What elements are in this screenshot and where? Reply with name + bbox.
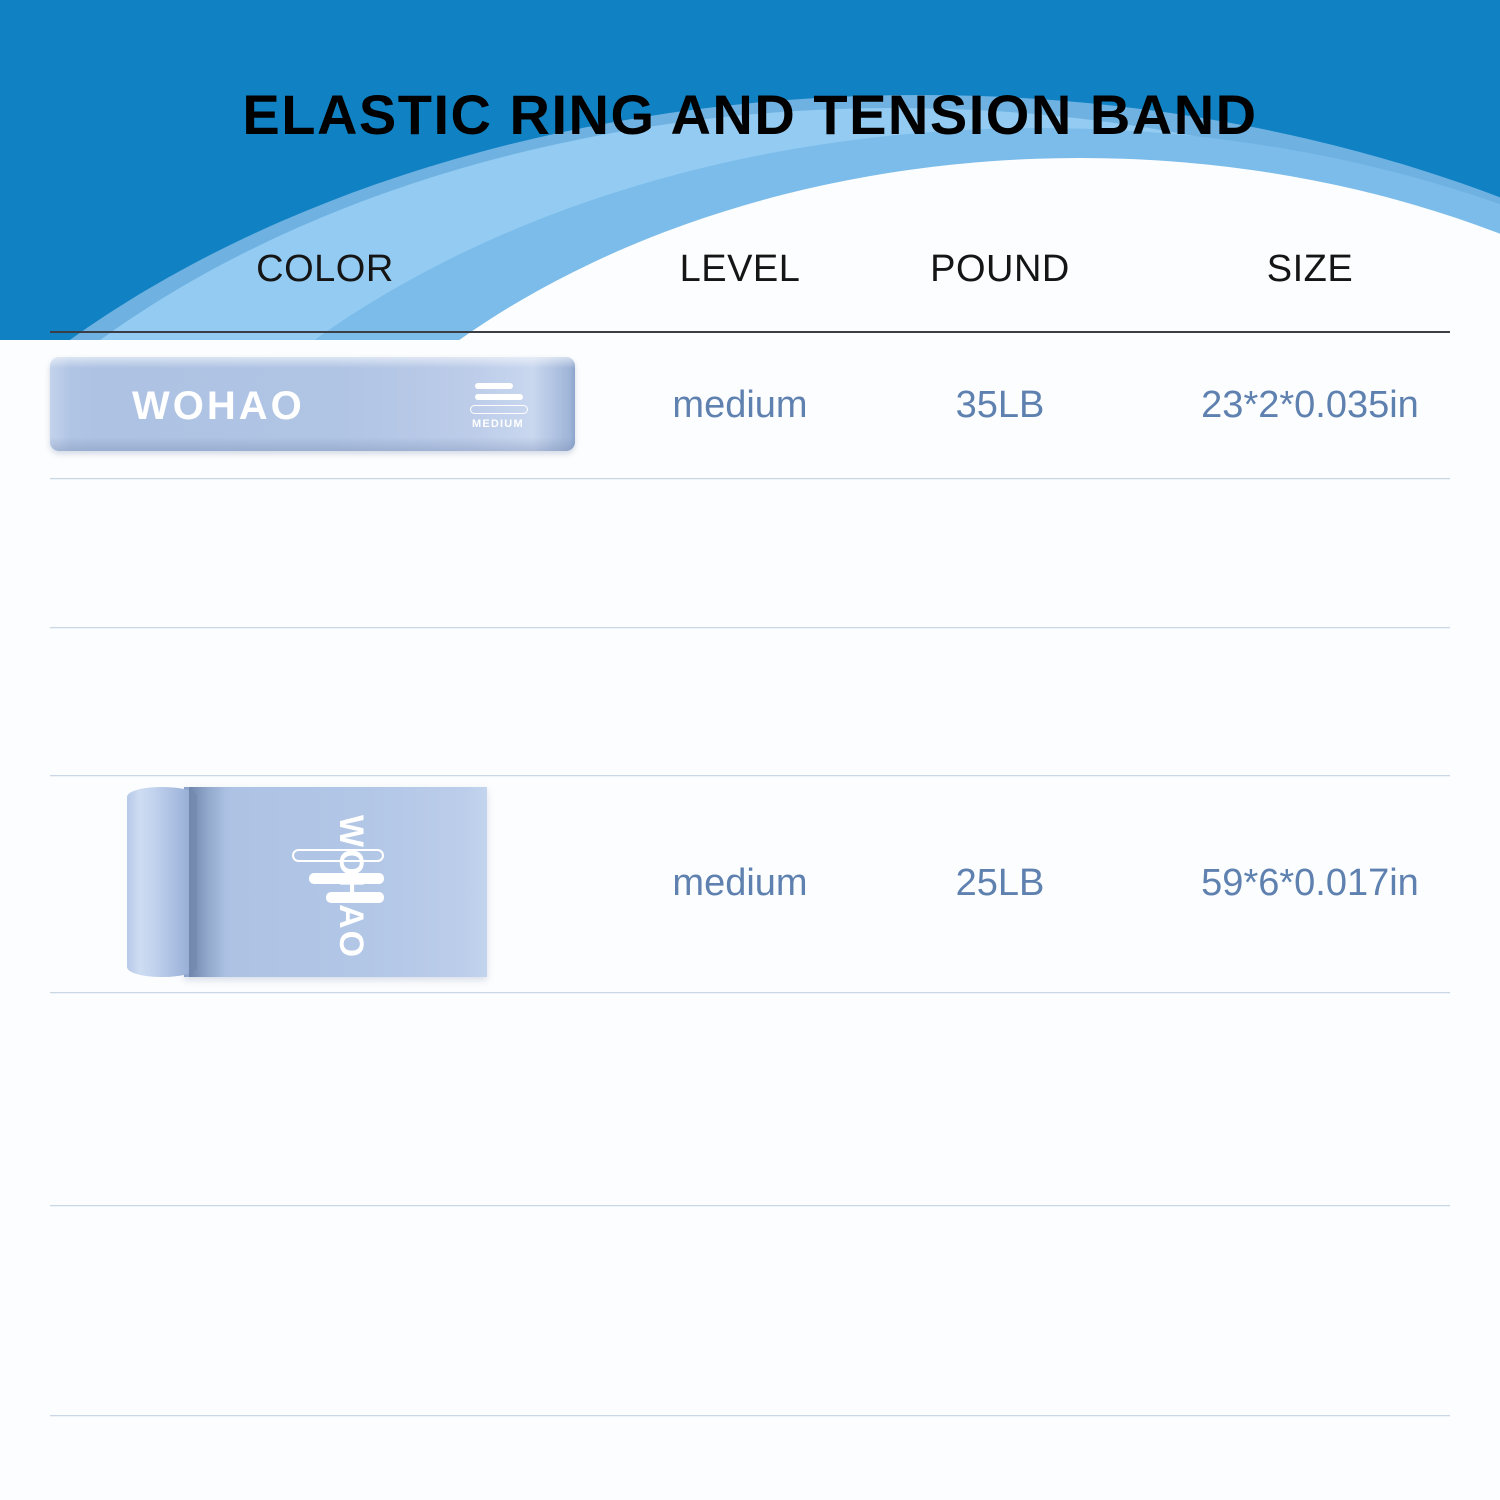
column-header-pound: POUND [880, 248, 1120, 291]
cell-size-row-2: 59*6*0.017in [1145, 862, 1475, 905]
level-bar-short [475, 383, 513, 389]
brand-logo-text: WOHAO [132, 384, 305, 429]
level-bar-long [475, 394, 523, 400]
row-divider [50, 478, 1450, 479]
level-pill-outline [470, 405, 528, 414]
row-divider [50, 627, 1450, 628]
level-indicator-icon: MEDIUM [470, 383, 532, 433]
band-roll-cylinder [127, 787, 197, 977]
cell-pound-row-1: 35LB [880, 384, 1120, 427]
cell-level-row-1: medium [620, 384, 860, 427]
level-badge-label: MEDIUM [472, 418, 524, 430]
product-image-rolled-band: WOHAO [127, 787, 487, 977]
table-header-rule [50, 331, 1450, 333]
row-divider [50, 992, 1450, 993]
row-divider [50, 1415, 1450, 1416]
table-header-row: COLOR LEVEL POUND SIZE [0, 248, 1500, 326]
row-divider [50, 1205, 1450, 1206]
cell-level-row-2: medium [620, 862, 860, 905]
cell-size-row-1: 23*2*0.035in [1145, 384, 1475, 427]
column-header-size: SIZE [1160, 248, 1460, 291]
page-title: ELASTIC RING AND TENSION BAND [0, 82, 1500, 147]
cell-pound-row-2: 25LB [880, 862, 1120, 905]
row-divider [50, 775, 1450, 776]
column-header-color: COLOR [180, 248, 470, 291]
brand-logo-text: WOHAO [331, 815, 370, 959]
column-header-level: LEVEL [620, 248, 860, 291]
band-roll-shadow [189, 787, 225, 977]
product-image-loop-band: WOHAO MEDIUM [50, 357, 575, 451]
